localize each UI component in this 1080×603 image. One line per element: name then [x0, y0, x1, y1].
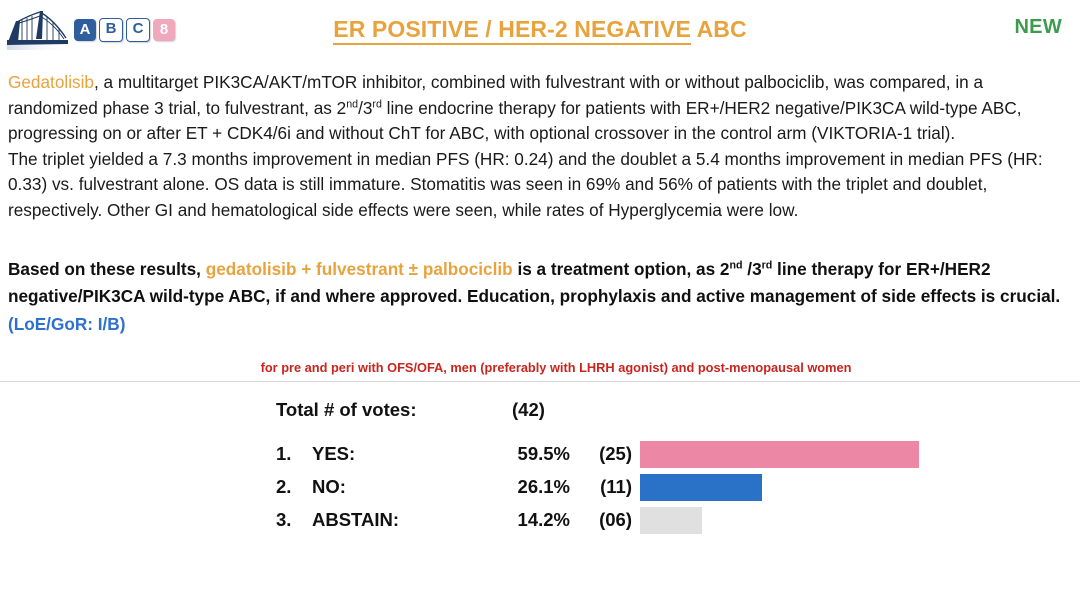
- page-header: A B C 8 ER POSITIVE / HER-2 NEGATIVE ABC…: [0, 0, 1080, 58]
- vote-bar-cell-no: [640, 474, 1080, 501]
- summary-paragraph-1: Gedatolisib, a multitarget PIK3CA/AKT/mT…: [8, 70, 1074, 147]
- recommendation-text-b: is a treatment option, as 2: [513, 259, 730, 279]
- recommendation-paragraph: Based on these results, gedatolisib + fu…: [8, 256, 1074, 311]
- summary-paragraph-2: The triplet yielded a 7.3 months improve…: [8, 147, 1074, 224]
- page-title-main: ER POSITIVE / HER-2 NEGATIVE: [333, 16, 691, 45]
- vote-row-no: 2. NO: 26.1% (11): [0, 471, 1080, 504]
- vote-count-yes: (25): [570, 443, 640, 465]
- recommendation-sup-2nd: nd: [729, 259, 742, 271]
- vote-count-abstain: (06): [570, 509, 640, 531]
- ordinal-sup-3rd: rd: [372, 98, 381, 110]
- vote-rank-3: 3.: [276, 509, 312, 531]
- vote-label-yes: YES:: [312, 443, 494, 465]
- vote-percent-yes: 59.5%: [494, 443, 570, 465]
- recommendation-sup-3rd: rd: [762, 259, 773, 271]
- vote-label-abstain: ABSTAIN:: [312, 509, 494, 531]
- vote-percent-abstain: 14.2%: [494, 509, 570, 531]
- vote-total-label: Total # of votes:: [276, 399, 494, 421]
- vote-count-no: (11): [570, 476, 640, 498]
- level-of-evidence: (LoE/GoR: I/B): [8, 311, 1074, 338]
- vote-row-yes: 1. YES: 59.5% (25): [0, 438, 1080, 471]
- drug-highlight-regimen: gedatolisib + fulvestrant ± palbociclib: [206, 259, 513, 279]
- footnote-population-note: for pre and peri with OFS/OFA, men (pref…: [8, 360, 1074, 375]
- vote-percent-no: 26.1%: [494, 476, 570, 498]
- recommendation-text-a: Based on these results,: [8, 259, 206, 279]
- content-body: Gedatolisib, a multitarget PIK3CA/AKT/mT…: [0, 70, 1080, 375]
- vote-bar-cell-abstain: [640, 507, 1080, 534]
- vote-total-count: (42): [512, 399, 576, 421]
- section-divider: [0, 381, 1080, 382]
- recommendation-text-c: /3: [743, 259, 762, 279]
- vote-bar-cell-yes: [640, 441, 1080, 468]
- paragraph-spacer: [8, 224, 1074, 256]
- new-badge: NEW: [1014, 16, 1062, 39]
- vote-total-row: Total # of votes: (42): [0, 392, 1080, 428]
- vote-rank-2: 2.: [276, 476, 312, 498]
- vote-row-abstain: 3. ABSTAIN: 14.2% (06): [0, 504, 1080, 537]
- drug-highlight-gedatolisib: Gedatolisib: [8, 72, 94, 92]
- vote-rank-1: 1.: [276, 443, 312, 465]
- page-title: ER POSITIVE / HER-2 NEGATIVE ABC: [0, 16, 1080, 43]
- vote-bar-abstain: [640, 507, 702, 534]
- page-title-tail: ABC: [691, 16, 747, 42]
- vote-bar-no: [640, 474, 762, 501]
- vote-bar-yes: [640, 441, 919, 468]
- ordinal-sup-2nd: nd: [346, 98, 358, 110]
- paragraph-1-text-b: /3: [358, 98, 372, 118]
- vote-label-no: NO:: [312, 476, 494, 498]
- voting-results: Total # of votes: (42) 1. YES: 59.5% (25…: [0, 392, 1080, 537]
